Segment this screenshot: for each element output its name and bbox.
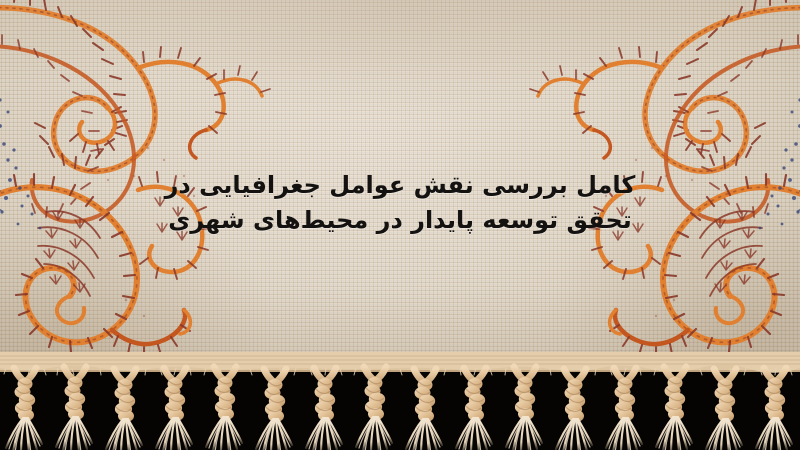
page-title: کامل بررسی نقش عوامل جغرافیایی در تحقق ت… — [0, 168, 800, 238]
tassel-group — [6, 367, 792, 450]
title-card: کامل بررسی نقش عوامل جغرافیایی در تحقق ت… — [0, 0, 800, 450]
title-line-2: تحقق توسعه پایدار در محیط‌های شهری — [0, 203, 800, 238]
tassel-fringe — [0, 352, 800, 450]
title-line-1: کامل بررسی نقش عوامل جغرافیایی در — [0, 168, 800, 203]
